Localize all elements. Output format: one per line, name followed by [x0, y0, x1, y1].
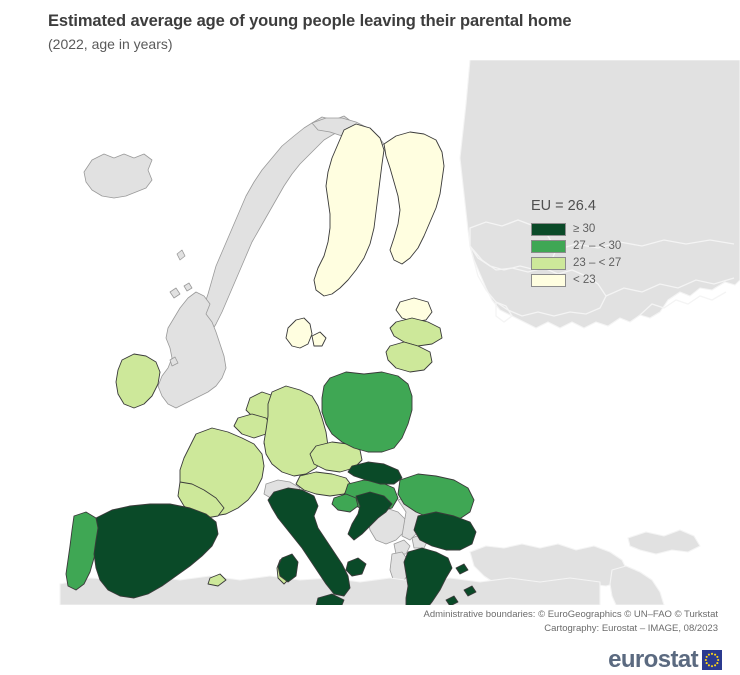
map-graphic[interactable]: .eu { stroke:#3a3a3a; stroke-width:0.9; … — [0, 60, 740, 605]
map-header: Estimated average age of young people le… — [48, 10, 708, 54]
legend-item-27-30[interactable]: 27 – < 30 — [531, 238, 621, 254]
legend-item-ge30[interactable]: ≥ 30 — [531, 221, 621, 237]
legend-label-lt23: < 23 — [573, 274, 596, 287]
eurostat-logo[interactable]: eurostat — [608, 648, 722, 672]
choropleth-map[interactable]: .eu { stroke:#3a3a3a; stroke-width:0.9; … — [0, 60, 740, 605]
page-title: Estimated average age of young people le… — [48, 10, 708, 32]
footer-attribution-boundaries: Administrative boundaries: © EuroGeograp… — [0, 608, 718, 622]
legend-swatch-27-30 — [531, 240, 566, 253]
eurostat-wordmark: eurostat — [608, 648, 698, 672]
legend-swatch-ge30 — [531, 223, 566, 236]
legend-item-23-27[interactable]: 23 – < 27 — [531, 255, 621, 271]
legend-swatch-23-27 — [531, 257, 566, 270]
eu-flag-icon — [702, 650, 722, 670]
footer-attribution-cartography: Cartography: Eurostat – IMAGE, 08/2023 — [0, 622, 718, 636]
legend-item-lt23[interactable]: < 23 — [531, 272, 621, 288]
legend-title: EU = 26.4 — [531, 198, 621, 214]
legend-label-23-27: 23 – < 27 — [573, 257, 621, 270]
legend-label-27-30: 27 – < 30 — [573, 240, 621, 253]
map-footer: Administrative boundaries: © EuroGeograp… — [0, 608, 740, 636]
map-legend: EU = 26.4 ≥ 30 27 – < 30 23 – < 27 < 23 — [531, 198, 621, 289]
legend-label-ge30: ≥ 30 — [573, 223, 595, 236]
legend-swatch-lt23 — [531, 274, 566, 287]
page-subtitle: (2022, age in years) — [48, 34, 708, 54]
